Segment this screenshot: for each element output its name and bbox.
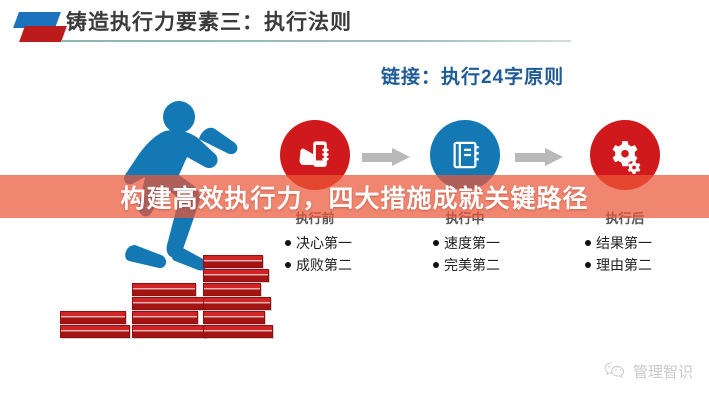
list-item-label: 完美第二 [444, 254, 500, 276]
book [132, 283, 196, 296]
book-stairs-icon [60, 243, 275, 338]
overlay-banner-text: 构建高效执行力，四大措施成就关键路径 [0, 175, 709, 218]
book [203, 269, 269, 282]
title-divider [61, 40, 571, 42]
logo-red-shape [19, 26, 67, 42]
list-item-label: 速度第一 [444, 232, 500, 254]
list-item: 结果第一 [585, 232, 652, 254]
bullet-column-1: 决心第一 成败第二 [285, 232, 352, 276]
book [132, 297, 204, 310]
list-item-label: 结果第一 [596, 232, 652, 254]
book [203, 255, 263, 268]
list-item: 决心第一 [285, 232, 352, 254]
book-stack-1 [60, 310, 130, 338]
list-item: 成败第二 [285, 254, 352, 276]
bullet-dot-icon [585, 240, 591, 246]
list-item-label: 成败第二 [296, 254, 352, 276]
bullet-column-2: 速度第一 完美第二 [433, 232, 500, 276]
list-item: 理由第二 [585, 254, 652, 276]
brand-parallelogram-logo [14, 12, 66, 44]
list-item-label: 理由第二 [596, 254, 652, 276]
book [132, 311, 198, 324]
book [60, 325, 130, 338]
list-item: 完美第二 [433, 254, 500, 276]
book [203, 325, 273, 338]
bullet-column-3: 结果第一 理由第二 [585, 232, 652, 276]
watermark: 管理智识 [604, 361, 693, 382]
wechat-icon [604, 361, 626, 382]
bullet-dot-icon [285, 240, 291, 246]
watermark-label: 管理智识 [633, 361, 693, 382]
list-item: 速度第一 [433, 232, 500, 254]
list-item-label: 决心第一 [296, 232, 352, 254]
right-arrow-icon-1 [362, 148, 412, 166]
slide-canvas: 铸造执行力要素三：执行法则 链接：执行24字原则 [0, 0, 709, 400]
bullet-columns: 决心第一 成败第二 速度第一 完美第二 结果第一 [285, 232, 685, 282]
book [132, 325, 206, 338]
book-stack-3 [203, 254, 273, 338]
right-arrow-icon-2 [515, 148, 565, 166]
bullet-dot-icon [433, 262, 439, 268]
bullet-dot-icon [433, 240, 439, 246]
book [60, 311, 126, 324]
book [203, 283, 261, 296]
page-title: 铸造执行力要素三：执行法则 [66, 6, 352, 36]
bullet-dot-icon [285, 262, 291, 268]
bullet-dot-icon [585, 262, 591, 268]
book [203, 297, 271, 310]
book [203, 311, 265, 324]
section-subtitle: 链接：执行24字原则 [381, 62, 564, 89]
book-stack-2 [132, 282, 206, 338]
